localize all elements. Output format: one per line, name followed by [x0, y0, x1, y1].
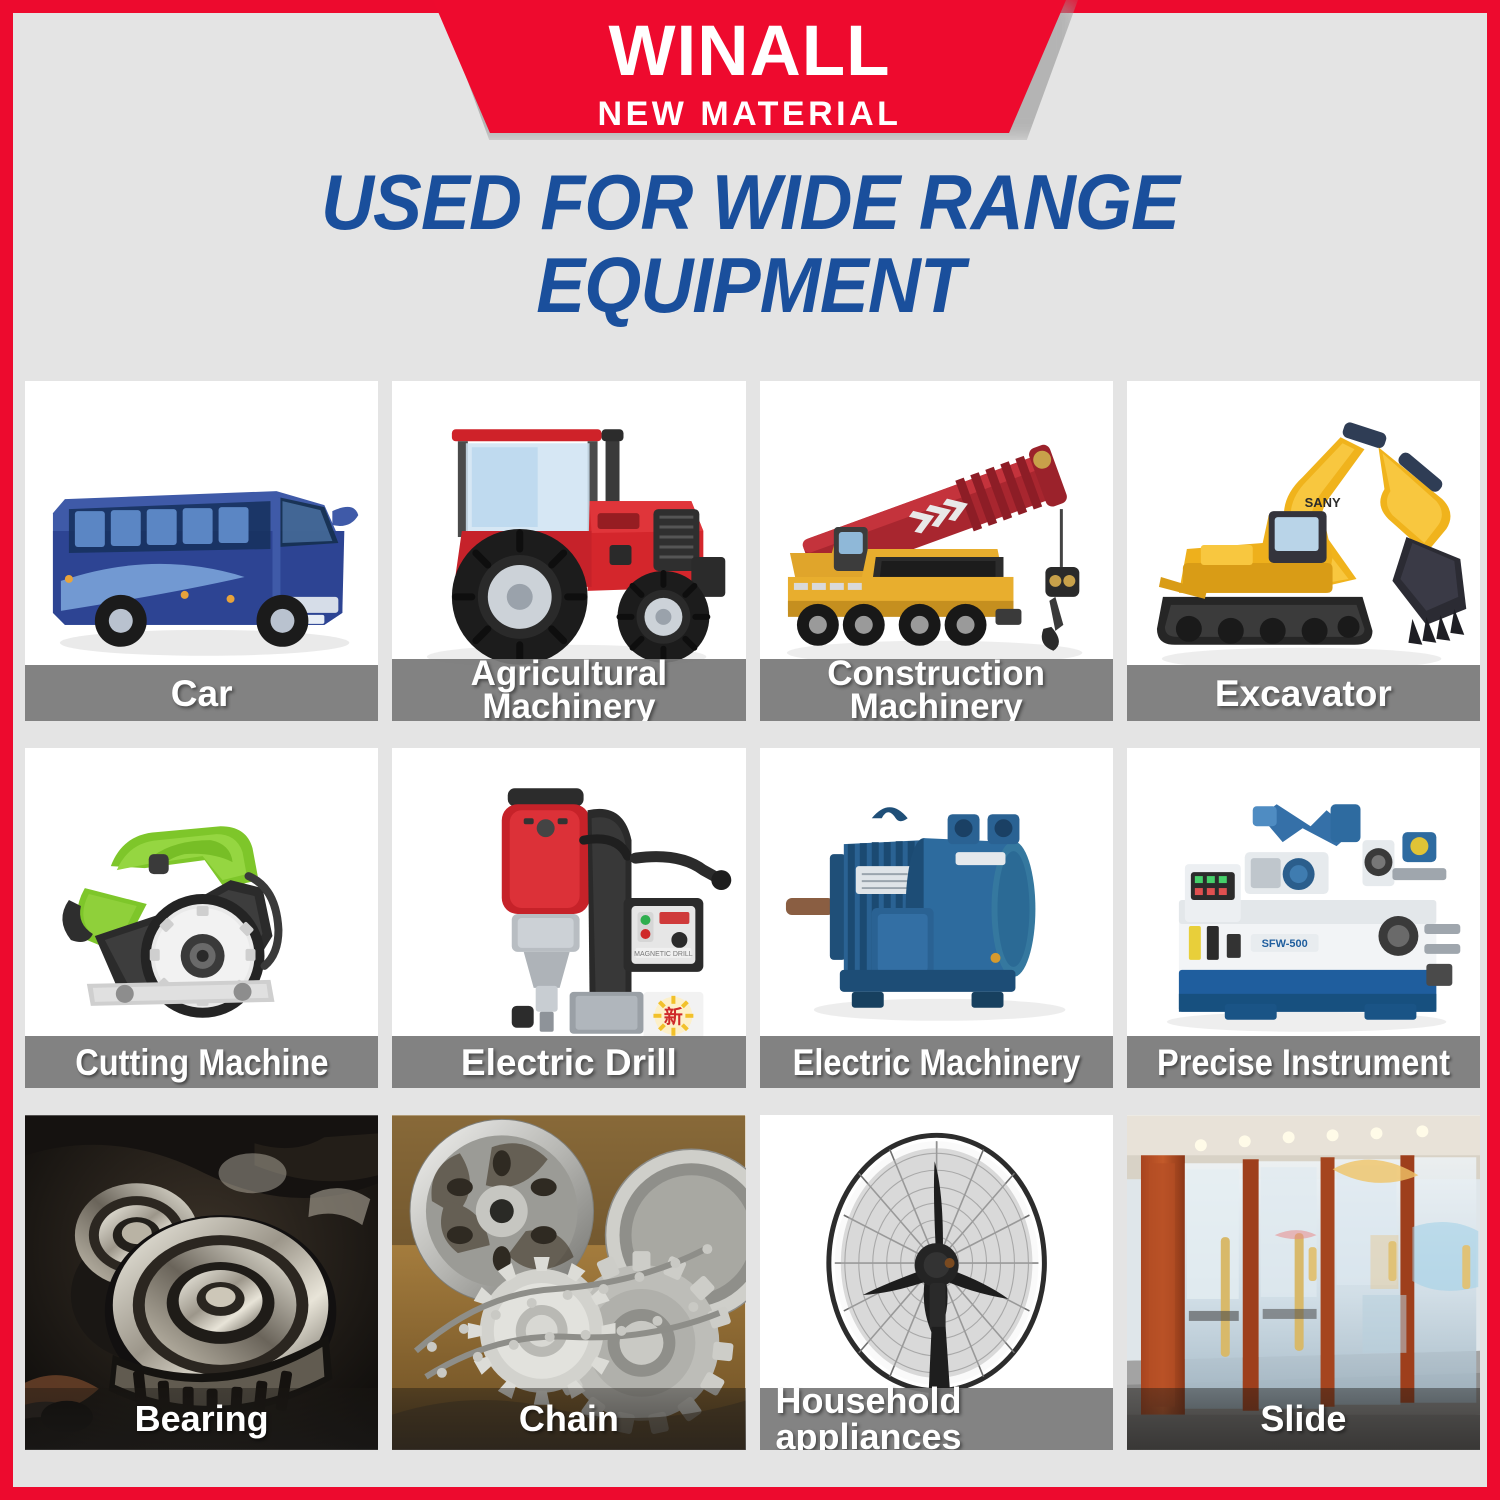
card-bearing[interactable]: Bearing	[25, 1115, 378, 1450]
card-agricultural-machinery[interactable]: Agricultural Machinery	[392, 381, 745, 721]
card-label: Bearing	[25, 1388, 378, 1450]
card-label-text: Electric Drill	[461, 1044, 677, 1081]
card-label-text: Excavator	[1215, 675, 1392, 712]
card-label-text: Construction Machinery	[760, 657, 1113, 721]
card-label-text: Precise Instrument	[1157, 1044, 1450, 1081]
card-label-text: Car	[171, 675, 233, 712]
card-label: Excavator	[1127, 665, 1480, 721]
card-label-text: Household appliances	[776, 1383, 1113, 1450]
svg-text:MAGNETIC DRILL: MAGNETIC DRILL	[634, 951, 693, 958]
card-car[interactable]: Car	[25, 381, 378, 721]
card-label-text: Chain	[519, 1401, 619, 1437]
card-construction-machinery[interactable]: SANY	[760, 381, 1113, 721]
card-label: Agricultural Machinery	[392, 659, 745, 721]
card-electric-machinery[interactable]: Electric Machinery	[760, 748, 1113, 1088]
grid-row: Car	[25, 381, 1480, 721]
card-slide[interactable]: Slide	[1127, 1115, 1480, 1450]
card-label: Slide	[1127, 1388, 1480, 1450]
card-precise-instrument[interactable]: SFW-500	[1127, 748, 1480, 1088]
card-cutting-machine[interactable]: Cutting Machine	[25, 748, 378, 1088]
card-label-text: Agricultural Machinery	[392, 657, 745, 721]
svg-text:SFW-500: SFW-500	[1261, 938, 1307, 950]
brand-banner: WINALL NEW MATERIAL	[13, 0, 1487, 145]
grid-row: Bearing	[25, 1115, 1480, 1450]
card-label-text: Electric Machinery	[792, 1044, 1080, 1081]
card-label: Car	[25, 665, 378, 721]
card-label-text: Bearing	[135, 1401, 269, 1437]
card-excavator[interactable]: SANY Excavator	[1127, 381, 1480, 721]
svg-text:SANY: SANY	[1304, 495, 1340, 510]
card-label: Construction Machinery	[760, 659, 1113, 721]
grid-row: Cutting Machine	[25, 748, 1480, 1088]
brand-tagline: NEW MATERIAL	[433, 87, 1066, 131]
card-label: Electric Drill	[392, 1036, 745, 1088]
card-label: Household appliances	[760, 1388, 1113, 1450]
card-electric-drill[interactable]: MAGNETIC DRILL 新	[392, 748, 745, 1088]
card-label: Cutting Machine	[25, 1036, 378, 1088]
card-household-appliances[interactable]: Household appliances	[760, 1115, 1113, 1450]
banner-ribbon: WINALL NEW MATERIAL	[433, 0, 1066, 133]
card-label: Electric Machinery	[760, 1036, 1113, 1088]
equipment-grid: Car	[25, 381, 1480, 1477]
card-label: Precise Instrument	[1127, 1036, 1480, 1088]
page-title: USED FOR WIDE RANGE EQUIPMENT	[57, 161, 1443, 328]
svg-text:新: 新	[664, 1005, 683, 1028]
brand-name: WINALL	[433, 0, 1066, 87]
card-chain[interactable]: Chain	[392, 1115, 745, 1450]
page-title-line2: EQUIPMENT	[57, 244, 1443, 327]
poster-frame: WINALL NEW MATERIAL USED FOR WIDE RANGE …	[13, 13, 1487, 1487]
card-label-text: Cutting Machine	[75, 1044, 328, 1081]
card-label-text: Slide	[1260, 1401, 1346, 1437]
card-label: Chain	[392, 1388, 745, 1450]
page-title-line1: USED FOR WIDE RANGE	[57, 161, 1443, 244]
